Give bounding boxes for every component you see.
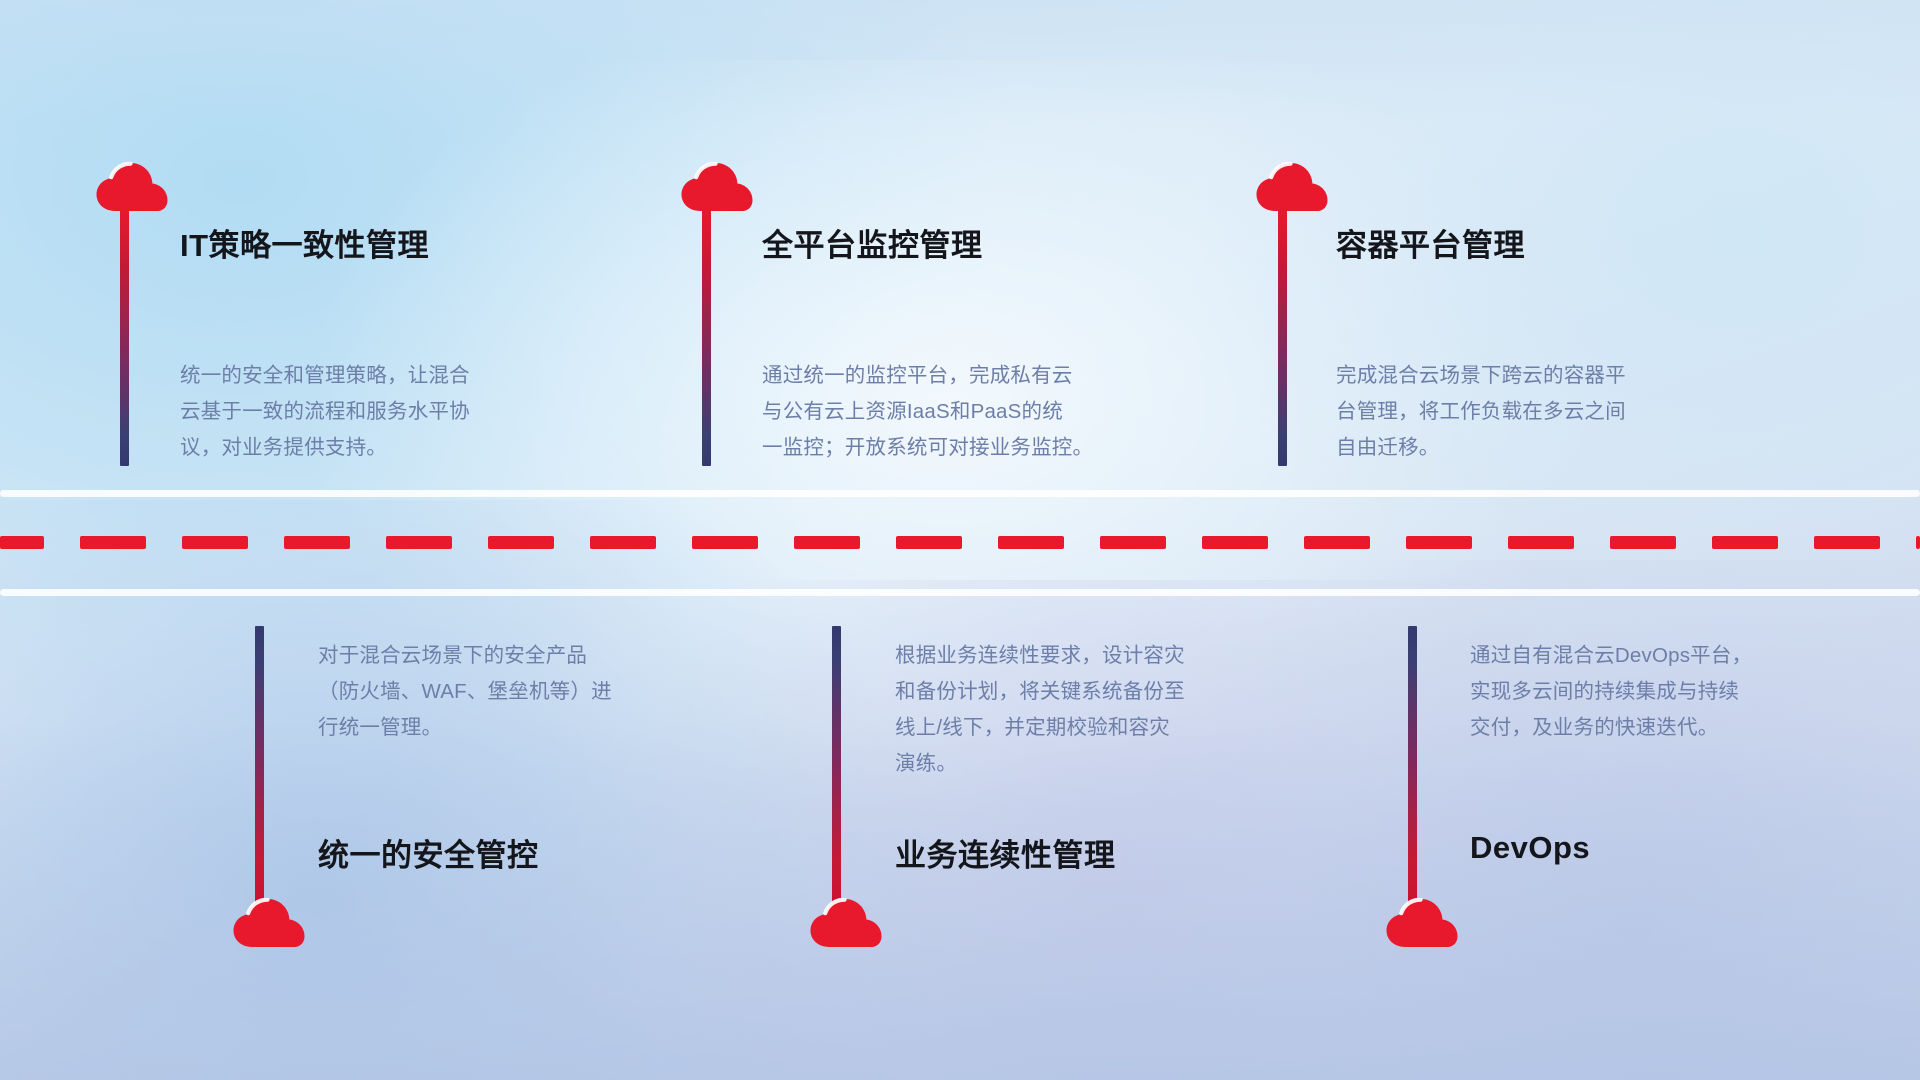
- column-title: DevOps: [1470, 830, 1590, 866]
- column-body: 通过自有混合云DevOps平台， 实现多云间的持续集成与持续 交付，及业务的快速…: [1470, 638, 1900, 746]
- body-line: 实现多云间的持续集成与持续: [1470, 674, 1900, 710]
- cloud-icon: [1385, 898, 1459, 948]
- body-line: 交付，及业务的快速迭代。: [1470, 710, 1900, 746]
- body-line: 通过自有混合云DevOps平台，: [1470, 638, 1900, 674]
- timeline-stem: [1408, 626, 1417, 916]
- column-devops: 通过自有混合云DevOps平台， 实现多云间的持续集成与持续 交付，及业务的快速…: [0, 0, 1920, 1080]
